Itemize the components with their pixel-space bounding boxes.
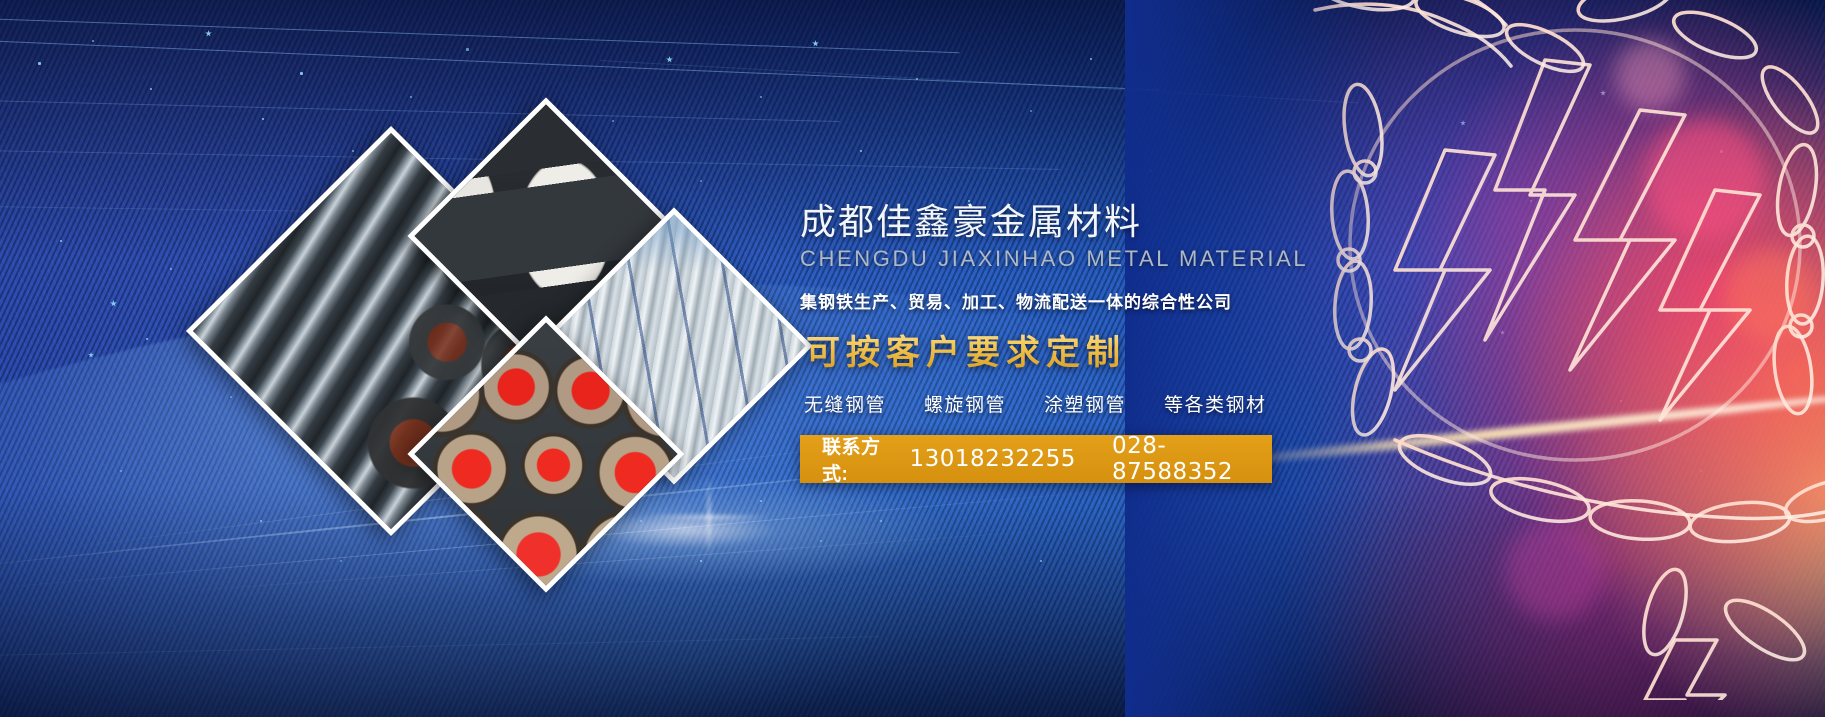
star-sparkle xyxy=(230,396,232,398)
contact-landline-number[interactable]: 028-87588352 xyxy=(1112,433,1272,485)
product-category-list: 无缝钢管 螺旋钢管 涂塑钢管 等各类钢材 xyxy=(804,390,1420,417)
star-sparkle xyxy=(170,268,172,270)
product-item-seamless[interactable]: 无缝钢管 xyxy=(804,390,886,417)
star-sparkle xyxy=(92,40,94,42)
star-sparkle xyxy=(466,48,469,51)
star-sparkle xyxy=(1090,58,1092,60)
star-sparkle xyxy=(38,62,41,65)
promotional-banner: 成都佳鑫豪金属材料 CHENGDU JIAXINHAO METAL MATERI… xyxy=(0,0,1825,717)
star-sparkle xyxy=(120,470,122,472)
star-sparkle xyxy=(700,180,702,182)
sparkle-cross-h xyxy=(650,516,770,518)
star-sparkle xyxy=(300,72,303,75)
star-sparkle xyxy=(352,150,354,152)
contact-label: 联系方式: xyxy=(822,432,899,486)
star-sparkle xyxy=(612,120,614,122)
star-sparkle xyxy=(260,520,262,522)
contact-bar: 联系方式: 13018232255 028-87588352 xyxy=(800,435,1272,483)
product-item-coated[interactable]: 涂塑钢管 xyxy=(1044,390,1126,417)
company-name-en: CHENGDU JIAXINHAO METAL MATERIAL xyxy=(800,246,1420,272)
product-item-other[interactable]: 等各类钢材 xyxy=(1164,390,1267,417)
banner-text-block: 成都佳鑫豪金属材料 CHENGDU JIAXINHAO METAL MATERI… xyxy=(800,202,1420,483)
star-sparkle xyxy=(340,560,342,562)
star-sparkle xyxy=(860,150,862,152)
sparkle-cross-v xyxy=(708,476,710,558)
star-sparkle xyxy=(150,88,152,90)
contact-mobile-number[interactable]: 13018232255 xyxy=(909,446,1075,472)
star-sparkle xyxy=(410,96,412,98)
star-sparkle xyxy=(760,96,762,98)
custom-order-slogan: 可按客户要求定制 xyxy=(806,325,1420,374)
star-sparkle xyxy=(1040,560,1042,562)
product-item-spiral[interactable]: 螺旋钢管 xyxy=(924,390,1006,417)
company-tagline: 集钢铁生产、贸易、加工、物流配送一体的综合性公司 xyxy=(800,288,1420,313)
star-sparkle xyxy=(916,78,918,80)
company-name-cn: 成都佳鑫豪金属材料 xyxy=(800,202,1420,244)
star-sparkle xyxy=(1030,110,1032,112)
star-sparkle xyxy=(146,338,148,340)
star-sparkle xyxy=(60,240,62,242)
star-sparkle xyxy=(262,118,264,120)
